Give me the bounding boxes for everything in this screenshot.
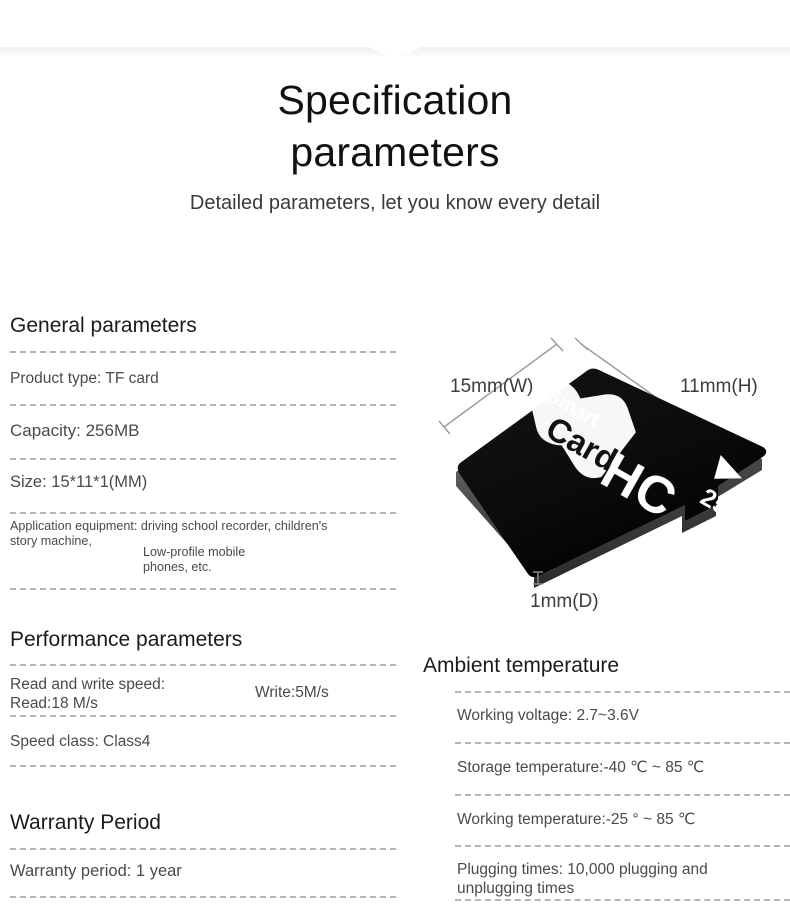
row-storage-temperature: Storage temperature:-40 ℃ ~ 85 ℃	[457, 758, 704, 777]
row-working-voltage: Working voltage: 2.7~3.6V	[457, 706, 639, 725]
dimension-label-depth: 1mm(D)	[530, 590, 599, 613]
divider-line	[10, 588, 396, 590]
page-title: Specification parameters	[0, 74, 790, 178]
divider-line	[10, 896, 396, 898]
row-warranty-period: Warranty period: 1 year	[10, 862, 182, 881]
divider-line	[10, 512, 396, 514]
divider-line	[10, 848, 396, 850]
divider-line	[10, 664, 396, 666]
row-capacity: Capacity: 256MB	[10, 421, 139, 440]
section-heading-general: General parameters	[10, 313, 197, 339]
row-application-equipment-continued: Low-profile mobile phones, etc.	[143, 545, 245, 575]
specification-parameters-page: Specification parameters Detailed parame…	[0, 0, 790, 906]
row-product-type: Product type: TF card	[10, 369, 159, 388]
page-subtitle: Detailed parameters, let you know every …	[0, 189, 790, 217]
divider-line	[455, 691, 790, 693]
dimension-label-width: 15mm(W)	[450, 375, 533, 398]
tf-card-illustration: Smart Card HC 256MB	[430, 320, 790, 640]
divider-line	[10, 458, 396, 460]
product-image-tf-card: Smart Card HC 256MB 15mm(W) 11mm(H) 1mm(…	[430, 320, 790, 640]
divider-line	[455, 742, 790, 744]
row-speed-class: Speed class: Class4	[10, 732, 150, 751]
banner-notch-icon	[366, 46, 424, 59]
row-working-temperature: Working temperature:-25 ° ~ 85 ℃	[457, 810, 695, 829]
row-plugging-times: Plugging times: 10,000 plugging and unpl…	[457, 860, 708, 898]
dimension-label-height: 11mm(H)	[680, 375, 758, 398]
divider-line	[455, 794, 790, 796]
page-title-line1: Specification	[0, 74, 790, 126]
divider-line	[455, 845, 790, 847]
row-read-write-speed: Read and write speed: Read:18 M/s	[10, 675, 165, 713]
divider-line	[455, 899, 790, 901]
divider-line	[10, 404, 396, 406]
section-heading-performance: Performance parameters	[10, 627, 242, 653]
row-write-speed: Write:5M/s	[255, 683, 329, 702]
divider-line	[10, 351, 396, 353]
divider-line	[10, 765, 396, 767]
page-title-line2: parameters	[0, 126, 790, 178]
section-heading-ambient-temperature: Ambient temperature	[423, 653, 619, 679]
divider-line	[10, 715, 396, 717]
section-heading-warranty: Warranty Period	[10, 810, 161, 836]
row-size: Size: 15*11*1(MM)	[10, 473, 147, 492]
